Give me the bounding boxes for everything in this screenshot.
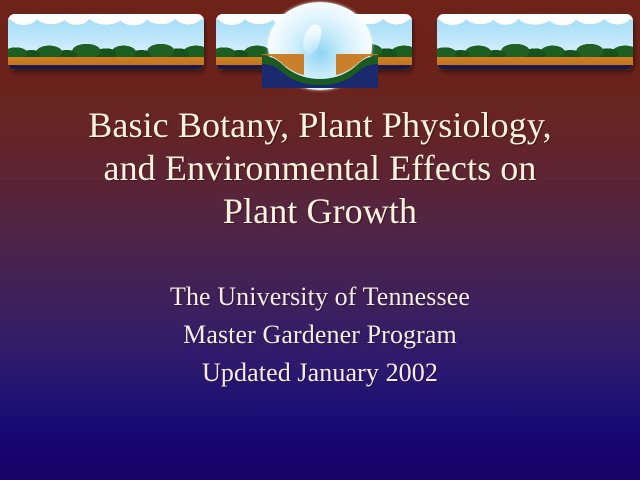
waterline	[8, 65, 204, 70]
treeline	[437, 44, 633, 57]
orb-valley	[262, 54, 378, 88]
cloud-band	[437, 14, 633, 31]
title-line-3: Plant Growth	[0, 190, 640, 233]
waterline	[437, 65, 633, 70]
subtitle-line-organization: The University of Tennessee	[0, 278, 640, 316]
page-title: Basic Botany, Plant Physiology, and Envi…	[0, 104, 640, 233]
landscape-panel-left	[8, 14, 204, 70]
orb-wisp	[301, 23, 324, 56]
subtitle-line-program: Master Gardener Program	[0, 316, 640, 354]
treeline	[8, 44, 204, 57]
presentation-slide: Basic Botany, Plant Physiology, and Envi…	[0, 0, 640, 480]
landscape-panel-right	[437, 14, 633, 70]
title-line-1: Basic Botany, Plant Physiology,	[0, 104, 640, 147]
title-line-2: and Environmental Effects on	[0, 147, 640, 190]
subtitle-line-updated-date: Updated January 2002	[0, 354, 640, 392]
valley-shape	[262, 54, 378, 88]
subtitle: The University of Tennessee Master Garde…	[0, 278, 640, 392]
cloud-band	[8, 14, 204, 31]
banner-artwork	[0, 0, 640, 92]
